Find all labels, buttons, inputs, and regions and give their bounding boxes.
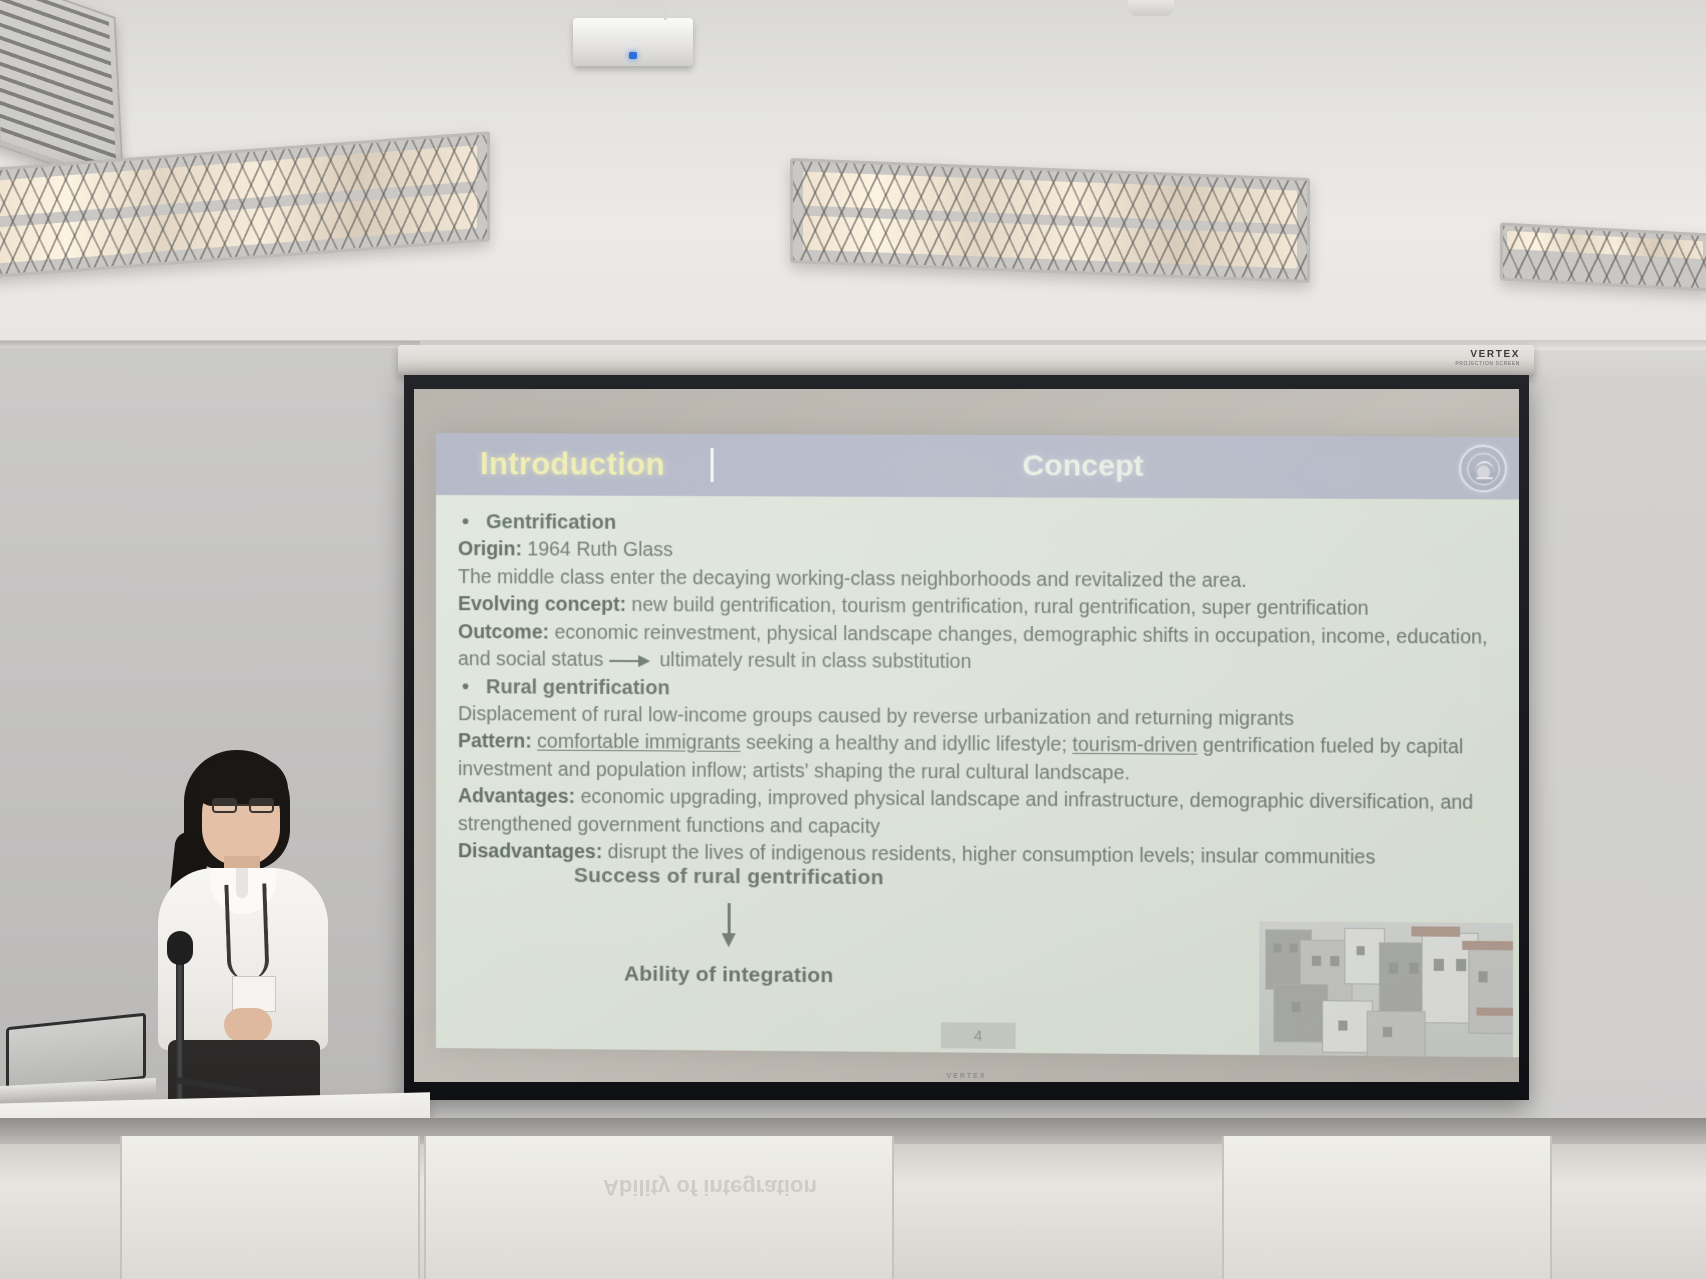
louver-grid bbox=[1503, 226, 1706, 289]
photo-building bbox=[1367, 1011, 1426, 1058]
slide-header-band: Introduction Concept bbox=[436, 433, 1519, 500]
photo-window bbox=[1456, 959, 1466, 971]
pattern-underlined-term-1: comfortable immigrants bbox=[537, 731, 740, 754]
slide-section-introduction: Introduction bbox=[480, 446, 665, 483]
projector-status-led bbox=[629, 52, 637, 59]
glasses-bridge bbox=[237, 804, 249, 806]
advantages-value: economic upgrading, improved physical la… bbox=[458, 786, 1473, 838]
outcome-result: ultimately result in class substitution bbox=[660, 649, 972, 673]
photo-window bbox=[1409, 963, 1418, 974]
disadvantages-label: Disadvantages: bbox=[458, 840, 602, 863]
vent-slats bbox=[0, 0, 117, 181]
line-pattern: Pattern: comfortable immigrants seeking … bbox=[458, 728, 1503, 790]
header-divider bbox=[711, 448, 714, 482]
presenter-clasped-hands bbox=[224, 1008, 272, 1042]
line-outcome: Outcome: economic reinvestment, physical… bbox=[458, 619, 1503, 680]
louver-grid bbox=[793, 161, 1307, 280]
screen-bottom-brand-label: VERTEX bbox=[414, 1073, 1519, 1080]
projection-screen-housing: VERTEX PROJECTION SCREEN bbox=[398, 345, 1534, 377]
photo-window bbox=[1434, 959, 1444, 971]
projector-cable bbox=[613, 4, 667, 20]
hillside-housing-photo bbox=[1259, 921, 1513, 1057]
photo-window bbox=[1292, 1002, 1301, 1012]
seal-inner-emblem bbox=[1467, 452, 1500, 484]
advantages-label: Advantages: bbox=[458, 785, 575, 808]
outcome-label: Outcome: bbox=[458, 621, 549, 643]
microphone-head bbox=[167, 931, 193, 965]
projected-slide: Introduction Concept •Gentrification Ori… bbox=[436, 433, 1519, 1057]
origin-label: Origin: bbox=[458, 538, 522, 560]
ceiling-fixture-edge bbox=[1128, 0, 1174, 16]
photo-window bbox=[1389, 962, 1398, 973]
screen-brand-label: VERTEX PROJECTION SCREEN bbox=[1455, 350, 1520, 367]
university-seal-logo-icon bbox=[1459, 445, 1507, 493]
pattern-underlined-term-2: tourism-driven bbox=[1072, 734, 1197, 757]
slide-body: •Gentrification Origin: 1964 Ruth Glass … bbox=[436, 495, 1519, 1057]
photo-roof bbox=[1462, 941, 1513, 950]
wall-trim-rail bbox=[0, 341, 420, 348]
lecture-room-photo: VERTEX PROJECTION SCREEN Introduction Co… bbox=[0, 0, 1706, 1279]
bullet-dot-icon: • bbox=[462, 511, 486, 534]
screen-brand-name: VERTEX bbox=[1455, 350, 1520, 360]
photo-window bbox=[1273, 943, 1281, 952]
photo-window bbox=[1383, 1027, 1392, 1037]
origin-value: 1964 Ruth Glass bbox=[522, 538, 673, 561]
flow-diagram: Success of rural gentrification Ability … bbox=[498, 863, 960, 989]
slide-title-concept: Concept bbox=[1022, 449, 1214, 484]
photo-roof bbox=[1476, 1008, 1513, 1016]
desk-reflection-text: Ability of integration bbox=[560, 1150, 860, 1200]
photo-building bbox=[1468, 949, 1513, 1034]
ceiling-projector bbox=[573, 18, 693, 66]
projection-screen-frame: Introduction Concept •Gentrification Ori… bbox=[404, 375, 1529, 1100]
photo-window bbox=[1357, 946, 1365, 955]
desk-panel bbox=[1222, 1136, 1552, 1279]
presenter-lanyard bbox=[224, 883, 269, 980]
flow-node-ability: Ability of integration bbox=[498, 961, 960, 989]
projection-screen-surface: Introduction Concept •Gentrification Ori… bbox=[414, 389, 1519, 1082]
photo-window bbox=[1290, 944, 1298, 953]
flow-node-success: Success of rural gentrification bbox=[498, 863, 960, 890]
desk-panel bbox=[120, 1136, 420, 1279]
pattern-label: Pattern: bbox=[458, 730, 532, 752]
photo-roof bbox=[1411, 926, 1460, 936]
line-origin: Origin: 1964 Ruth Glass bbox=[458, 536, 1503, 568]
photo-window bbox=[1478, 971, 1487, 982]
photo-window bbox=[1312, 956, 1321, 966]
lectern-laptop bbox=[0, 1020, 150, 1106]
ceiling-light-fixture-right bbox=[1500, 222, 1706, 291]
ceiling bbox=[0, 0, 1706, 350]
down-arrow-icon bbox=[722, 903, 736, 949]
photo-window bbox=[1338, 1020, 1347, 1030]
slide-page-number: 4 bbox=[941, 1022, 1016, 1049]
presenter-id-badge bbox=[232, 976, 276, 1012]
evolving-concept-value: new build gentrification, tourism gentri… bbox=[626, 594, 1368, 620]
evolving-concept-label: Evolving concept: bbox=[458, 593, 626, 616]
bullet-gentrification: •Gentrification bbox=[462, 511, 1503, 539]
line-advantages: Advantages: economic upgrading, improved… bbox=[458, 783, 1503, 845]
glasses-lens-right bbox=[249, 798, 274, 813]
pattern-text-2: seeking a healthy and idyllic lifestyle; bbox=[740, 732, 1072, 756]
bullet-rural-gentrification-label: Rural gentrification bbox=[486, 676, 670, 699]
bullet-gentrification-label: Gentrification bbox=[486, 511, 616, 534]
glasses-lens-left bbox=[212, 798, 237, 813]
right-arrow-icon bbox=[609, 655, 653, 667]
photo-building bbox=[1379, 942, 1428, 1019]
screen-brand-subtitle: PROJECTION SCREEN bbox=[1455, 362, 1520, 367]
ceiling-light-fixture-center bbox=[790, 158, 1310, 283]
photo-building bbox=[1273, 984, 1328, 1043]
bullet-rural-gentrification: •Rural gentrification bbox=[462, 676, 1503, 705]
microphone-stand bbox=[176, 955, 184, 1115]
presenter-glasses bbox=[212, 798, 274, 814]
photo-window bbox=[1330, 956, 1339, 966]
bullet-dot-icon: • bbox=[462, 676, 486, 699]
